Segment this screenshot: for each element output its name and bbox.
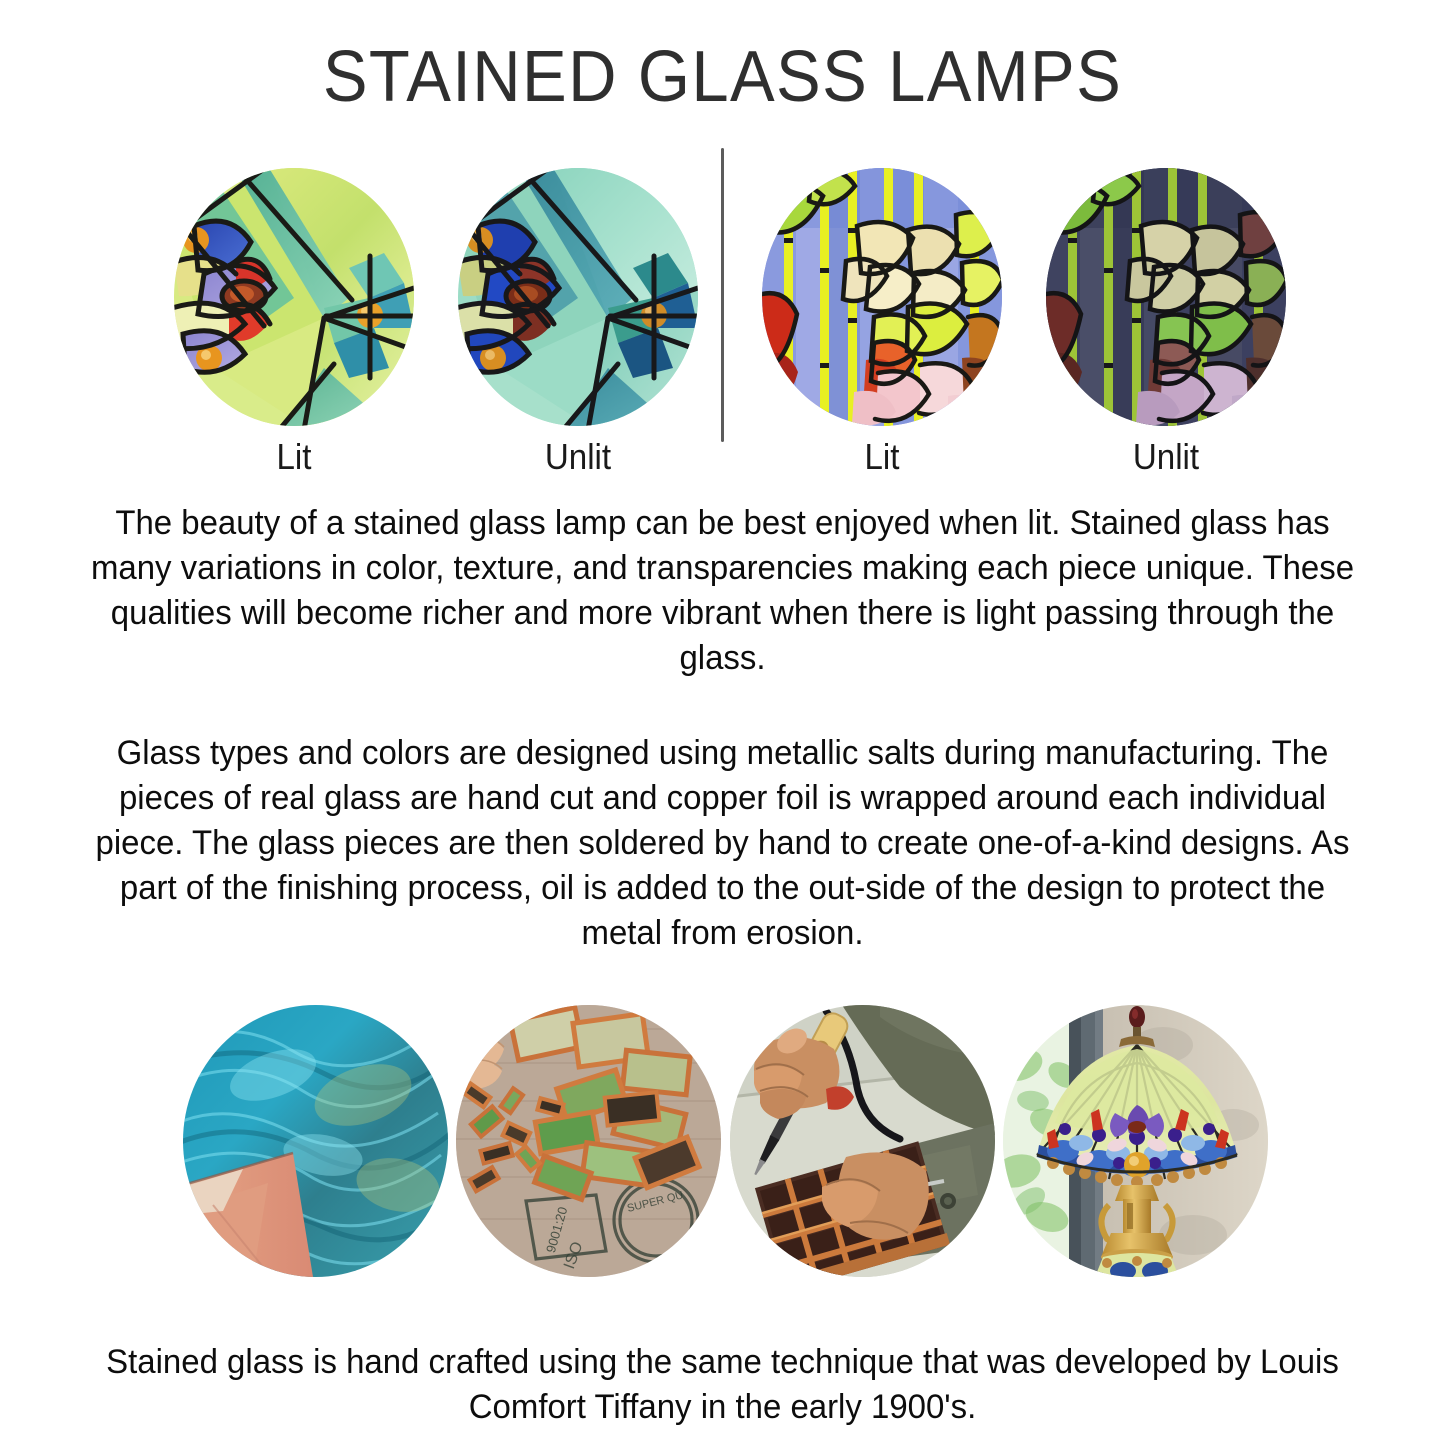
caption-lit-2: Lit [772,436,993,478]
comparison-captions: Lit Unlit Lit Unlit [0,436,1445,484]
infographic-page: STAINED GLASS LAMPS [0,0,1445,1445]
paragraph-tiffany-credit: Stained glass is hand crafted using the … [85,1340,1360,1430]
process-image-glass-sheet [183,1005,448,1277]
caption-unlit-1: Unlit [468,436,689,478]
paragraph-manufacturing: Glass types and colors are designed usin… [85,731,1360,956]
comparison-image-unlit-1 [458,168,698,426]
process-image-finished-lamp [1003,1005,1268,1277]
comparison-image-unlit-2 [1046,168,1286,426]
caption-lit-1: Lit [184,436,405,478]
caption-unlit-2: Unlit [1056,436,1277,478]
comparison-image-lit-2 [762,168,1002,426]
page-title: STAINED GLASS LAMPS [51,36,1395,118]
process-row: SUPER QU 9001:20 ISO [0,1005,1445,1277]
vertical-divider [721,148,724,442]
process-image-soldering [730,1005,995,1277]
comparison-image-lit-1 [174,168,414,426]
process-image-copper-foiling: SUPER QU 9001:20 ISO [456,1005,721,1277]
paragraph-lit-beauty: The beauty of a stained glass lamp can b… [85,501,1360,681]
